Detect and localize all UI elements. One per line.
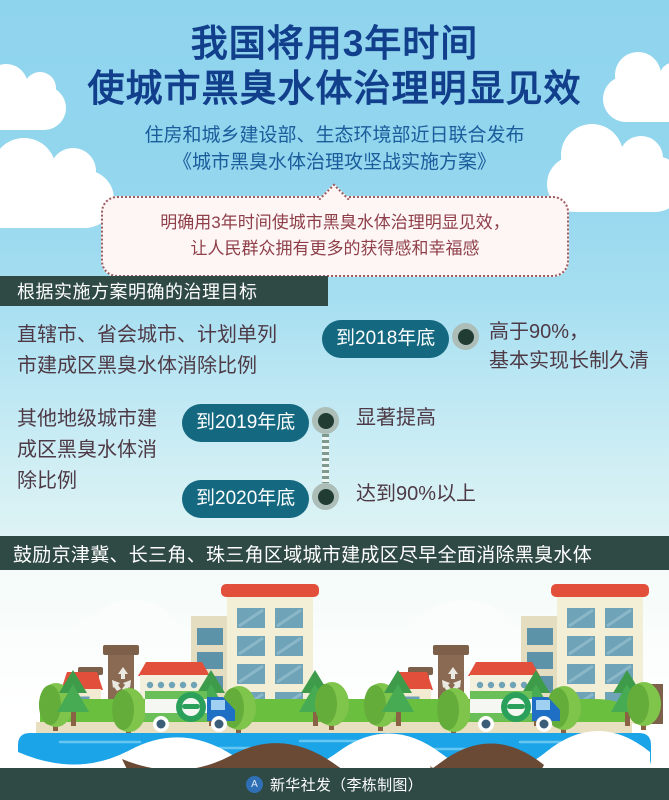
goal-1-deadline-badge[interactable]: 到2018年底 — [322, 320, 449, 358]
goal-2-description-line2: 成区黑臭水体消 — [17, 435, 182, 466]
goal-2-description: 其他地级城市建 成区黑臭水体消 除比例 — [0, 404, 182, 497]
callout-bubble: 明确用3年时间使城市黑臭水体治理明显见效， 让人民群众拥有更多的获得感和幸福感 — [101, 196, 569, 277]
goal-1-bullet-icon — [452, 323, 479, 350]
callout-line2: 让人民群众拥有更多的获得感和幸福感 — [119, 236, 551, 262]
goal-2-description-line1: 其他地级城市建 — [17, 404, 182, 435]
goal-2-bullet-icon-2019 — [312, 407, 339, 434]
goal-2-deadline-badge-2019[interactable]: 到2019年底 — [182, 404, 309, 442]
goal-1-description: 直辖市、省会城市、计划单列 市建成区黑臭水体消除比例 — [0, 320, 300, 382]
callout-line1: 明确用3年时间使城市黑臭水体治理明显见效， — [119, 210, 551, 236]
goal-1-value: 高于90%， 基本实现长制久清 — [489, 318, 649, 376]
page-title-line1: 我国将用3年时间 — [0, 0, 669, 66]
bottom-banner: 鼓励京津冀、长三角、珠三角区域城市建成区尽早全面消除黑臭水体 — [0, 536, 669, 570]
section-header-label: 根据实施方案明确的治理目标 — [0, 278, 258, 304]
goal-2-value-2019: 显著提高 — [356, 404, 436, 433]
subtitle-line2: 《城市黑臭水体治理攻坚战实施方案》 — [0, 149, 669, 176]
goal-2-bullet-icon-2020 — [312, 483, 339, 510]
goal-2-value-2020: 达到90%以上 — [356, 480, 476, 509]
goal-1-value-line2: 基本实现长制久清 — [489, 347, 649, 376]
cloud-decoration — [0, 170, 114, 228]
infographic-poster: 我国将用3年时间 使城市黑臭水体治理明显见效 住房和城乡建设部、生态环境部近日联… — [0, 0, 669, 800]
goal-2-deadline-badge-2020[interactable]: 到2020年底 — [182, 480, 309, 518]
footer-credit-bar: A 新华社发（李栋制图） — [0, 768, 669, 800]
page-title-line2: 使城市黑臭水体治理明显见效 — [0, 66, 669, 112]
subtitle-line1: 住房和城乡建设部、生态环境部近日联合发布 — [0, 112, 669, 149]
timeline-connector — [322, 434, 329, 483]
goal-1-description-line1: 直辖市、省会城市、计划单列 — [17, 320, 300, 351]
poster-header: 我国将用3年时间 使城市黑臭水体治理明显见效 住房和城乡建设部、生态环境部近日联… — [0, 0, 669, 176]
goal-1-value-line1: 高于90%， — [489, 318, 649, 347]
goal-1-description-line2: 市建成区黑臭水体消除比例 — [17, 351, 300, 382]
section-header-bar: 根据实施方案明确的治理目标 — [0, 276, 328, 306]
xinhua-logo-icon: A — [246, 776, 263, 793]
goal-2-description-line3: 除比例 — [17, 466, 182, 497]
footer-credit-text: 新华社发（李栋制图） — [270, 774, 423, 795]
city-illustration — [0, 570, 669, 800]
bottom-banner-label: 鼓励京津冀、长三角、珠三角区域城市建成区尽早全面消除黑臭水体 — [0, 540, 592, 567]
city-scene-graphic — [0, 570, 669, 800]
callout-pointer-icon — [318, 181, 352, 200]
